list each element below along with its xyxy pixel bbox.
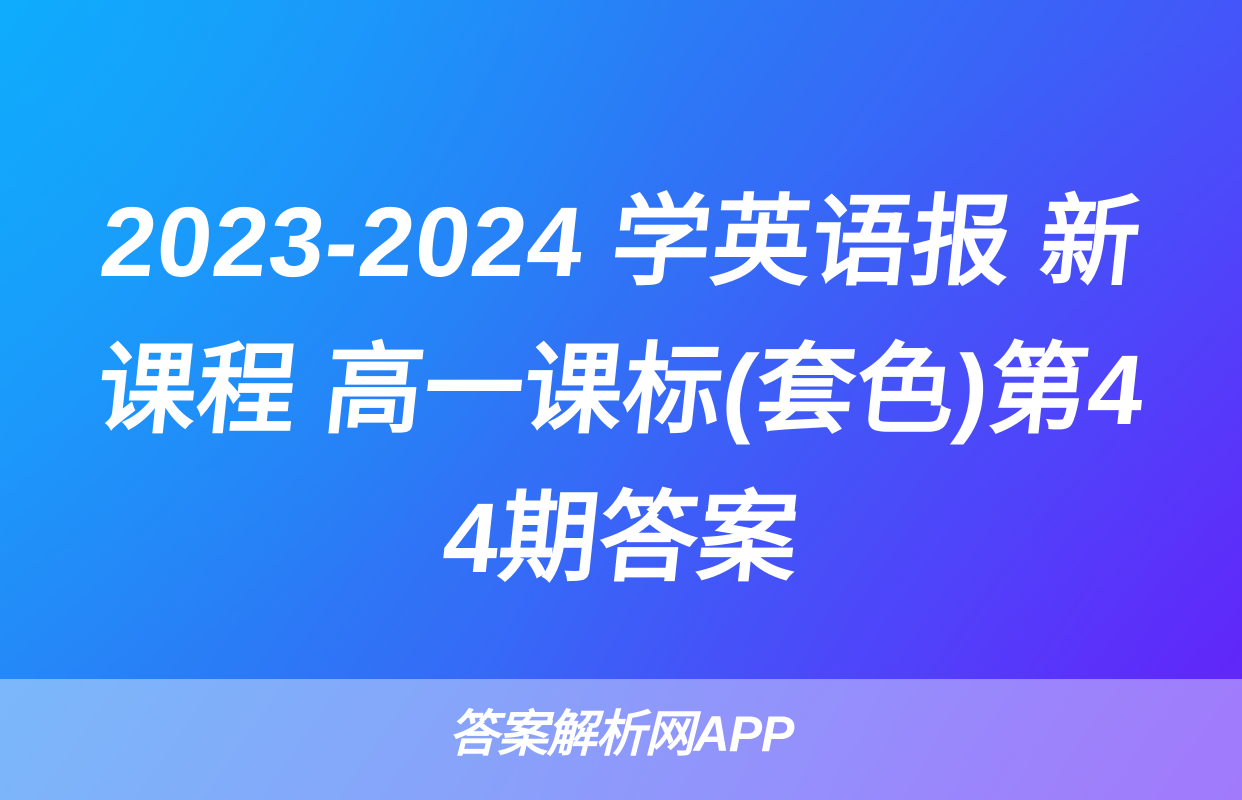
title-line-3: 4期答案 <box>54 464 1188 612</box>
title-line-2: 课程 高一课标(套色)第4 <box>54 316 1188 464</box>
watermark-brand-label: 答案解析网APP <box>0 703 1242 765</box>
page-title: 2023-2024 学英语报 新 课程 高一课标(套色)第4 4期答案 <box>62 168 1180 612</box>
title-line-1: 2023-2024 学英语报 新 <box>54 168 1188 316</box>
footer-watermark-band: 答案解析网APP <box>0 679 1242 800</box>
answer-banner-image: 2023-2024 学英语报 新 课程 高一课标(套色)第4 4期答案 答案解析… <box>0 0 1242 800</box>
